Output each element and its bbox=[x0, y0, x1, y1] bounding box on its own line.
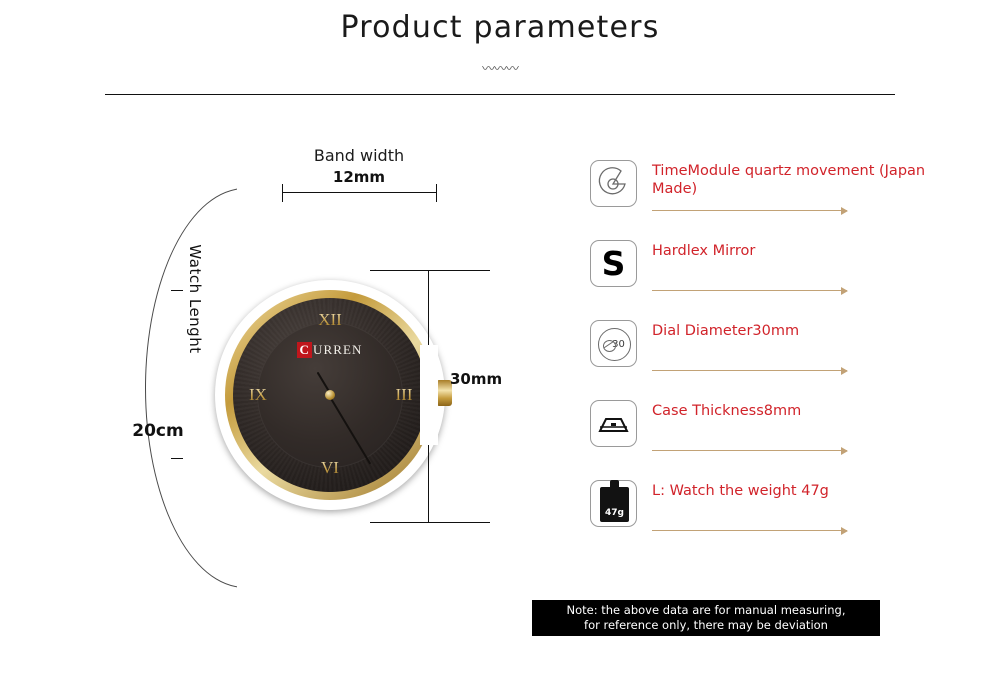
band-width-dimension-line bbox=[282, 192, 437, 193]
case-thickness-icon bbox=[590, 400, 637, 447]
feature-dial-diameter-arrow bbox=[652, 370, 847, 371]
feature-movement-arrow bbox=[652, 210, 847, 211]
feature-weight-label: L: Watch the weight 47g bbox=[652, 482, 952, 500]
feature-case-thickness-arrow bbox=[652, 450, 847, 451]
feature-movement: TimeModule quartz movement (Japan Made) bbox=[590, 160, 970, 240]
feature-weight: 47g L: Watch the weight 47g bbox=[590, 480, 970, 560]
brand-initial: C bbox=[297, 342, 312, 358]
feature-movement-label: TimeModule quartz movement (Japan Made) bbox=[652, 162, 952, 198]
band-width-tick-right bbox=[436, 184, 437, 202]
numeral-9: IX bbox=[241, 385, 275, 405]
numeral-6: VI bbox=[313, 458, 347, 478]
feature-case-thickness-label: Case Thickness8mm bbox=[652, 402, 952, 420]
band-width-value: 12mm bbox=[274, 168, 444, 186]
band-width-label: Band width bbox=[274, 146, 444, 165]
band-width-tick-left bbox=[282, 184, 283, 202]
strap-fade bbox=[283, 677, 437, 683]
ornament-divider: 〰〰〰 bbox=[0, 58, 1000, 77]
watch-length-label: Watch Lenght bbox=[186, 224, 204, 374]
diameter-line-top bbox=[370, 270, 490, 271]
diameter-line-bottom bbox=[370, 522, 490, 523]
dial-diameter-circle: 30 bbox=[598, 328, 631, 361]
page-title: Product parameters bbox=[0, 10, 1000, 45]
weight-icon-value: 47g bbox=[605, 508, 624, 518]
product-parameters-page: Product parameters 〰〰〰 Band width 12mm W… bbox=[0, 0, 1000, 683]
watch-illustration: Band width 12mm Watch Lenght 20cm CURREN… bbox=[60, 130, 580, 600]
feature-dial-diameter-label: Dial Diameter30mm bbox=[652, 322, 952, 340]
brand-logo: CURREN bbox=[233, 342, 427, 358]
numeral-12: XII bbox=[313, 310, 347, 330]
watch-length-tick-bottom bbox=[171, 458, 183, 459]
disclaimer-note: Note: the above data are for manual meas… bbox=[532, 600, 880, 636]
hardlex-s-glyph: S bbox=[591, 241, 636, 286]
header-rule bbox=[105, 94, 895, 95]
feature-mirror-arrow bbox=[652, 290, 847, 291]
diameter-label-gap bbox=[420, 345, 438, 445]
numeral-3: III bbox=[387, 385, 421, 405]
feature-list: TimeModule quartz movement (Japan Made) … bbox=[590, 160, 970, 560]
feature-mirror: S Hardlex Mirror bbox=[590, 240, 970, 320]
hardlex-s-icon: S bbox=[590, 240, 637, 287]
watch-dial: CURREN XII III VI IX bbox=[233, 298, 427, 492]
feature-weight-arrow bbox=[652, 530, 847, 531]
watch-length-value: 20cm bbox=[118, 421, 198, 441]
hands-pin bbox=[325, 390, 335, 400]
disclaimer-line-1: Note: the above data are for manual meas… bbox=[532, 603, 880, 618]
feature-case-thickness: Case Thickness8mm bbox=[590, 400, 970, 480]
feature-mirror-label: Hardlex Mirror bbox=[652, 242, 952, 260]
weight-icon: 47g bbox=[590, 480, 637, 527]
case-diameter-value: 30mm bbox=[450, 370, 502, 388]
watch-strap-bottom bbox=[283, 528, 437, 683]
watch-length-tick-top bbox=[171, 290, 183, 291]
weight-block: 47g bbox=[600, 487, 629, 522]
disclaimer-line-2: for reference only, there may be deviati… bbox=[532, 618, 880, 633]
movement-icon bbox=[590, 160, 637, 207]
dial-diameter-icon-value: 30 bbox=[612, 339, 625, 350]
watch-head: CURREN XII III VI IX bbox=[215, 280, 445, 510]
dial-diameter-icon: 30 bbox=[590, 320, 637, 367]
feature-dial-diameter: 30 Dial Diameter30mm bbox=[590, 320, 970, 400]
